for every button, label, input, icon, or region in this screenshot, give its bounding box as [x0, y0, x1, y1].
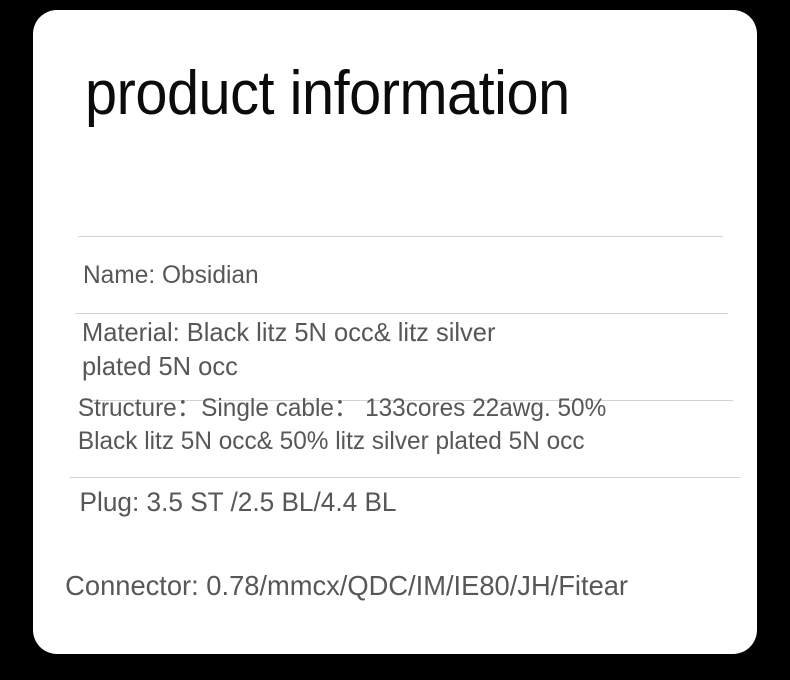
spec-row-name: Name: Obsidian: [33, 190, 743, 236]
spec-row-plug: Plug: 3.5 ST /2.5 BL/4.4 BL: [33, 401, 735, 477]
page-title: product information: [85, 58, 570, 130]
product-information-card: product information Name: Obsidian Mater…: [33, 10, 757, 654]
spec-row-material: Material: Black litz 5N occ& litz silver…: [33, 237, 743, 313]
spec-row-connector: Connector: 0.78/mmcx/QDC/IM/IE80/JH/Fite…: [33, 478, 739, 558]
special-requirements-note: Accept special requirements: [33, 558, 735, 654]
spec-row-structure: Structure：Single cable： 133cores 22awg. …: [33, 314, 739, 400]
spec-list: Name: Obsidian Material: Black litz 5N o…: [33, 190, 757, 654]
special-requirements-text: Accept special requirements: [80, 652, 736, 654]
product-information-screen: product information Name: Obsidian Mater…: [0, 0, 790, 680]
